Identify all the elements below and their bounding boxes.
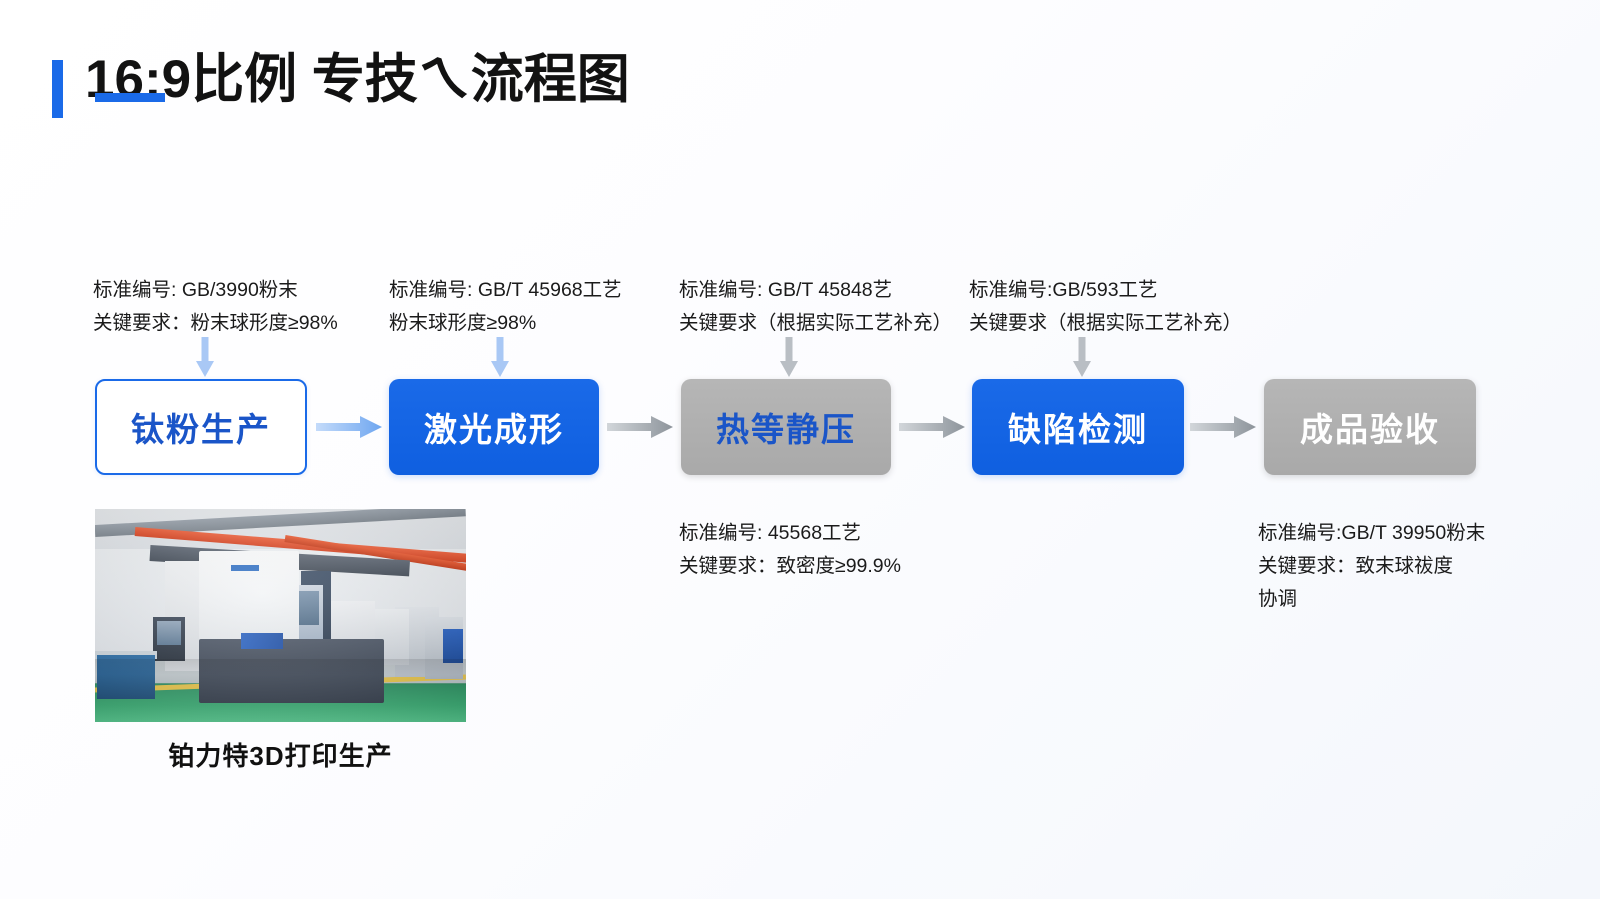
annotation-key-requirement: 粉末球形度≥98% <box>389 307 622 340</box>
annotation-block-6: 标准编号:GB/T 39950粉末 关键要求：致末球祓度 协调 <box>1258 517 1485 616</box>
page-title-block: 16:9比例 专技ㄟ流程图 <box>52 52 630 118</box>
factory-photo <box>95 509 466 722</box>
flow-node-hot-isostatic-pressing[interactable]: 热等静压 <box>681 379 891 475</box>
annotation-block-3: 标准编号: GB/T 45848艺 关键要求（根据实际工艺补充） <box>679 274 952 340</box>
flow-node-laser-forming[interactable]: 激光成形 <box>389 379 599 475</box>
annotation-block-5: 标准编号: 45568工艺 关键要求：致密度≥99.9% <box>679 517 901 583</box>
annotation-standard-no: 标准编号:GB/593工艺 <box>969 274 1242 307</box>
flow-node-label: 钛粉生产 <box>131 403 271 451</box>
flow-node-label: 成品验收 <box>1300 403 1440 451</box>
flow-node-final-acceptance[interactable]: 成品验收 <box>1264 379 1476 475</box>
right-arrow-icon <box>316 415 382 439</box>
annotation-key-requirement: 关键要求：粉末球形度≥98% <box>93 307 338 340</box>
annotation-block-2: 标准编号: GB/T 45968工艺 粉末球形度≥98% <box>389 274 622 340</box>
annotation-standard-no: 标准编号: GB/T 45848艺 <box>679 274 952 307</box>
annotation-standard-no: 标准编号: GB/3990粉末 <box>93 274 338 307</box>
right-arrow-icon <box>899 415 965 439</box>
down-arrow-icon <box>778 337 800 379</box>
annotation-key-requirement: 关键要求：致密度≥99.9% <box>679 550 901 583</box>
annotation-standard-no: 标准编号: GB/T 45968工艺 <box>389 274 622 307</box>
annotation-key-requirement: 关键要求（根据实际工艺补充） <box>679 307 952 340</box>
title-underline <box>95 93 165 102</box>
flow-node-label: 缺陷检测 <box>1008 403 1148 451</box>
flow-node-label: 激光成形 <box>424 403 564 451</box>
annotation-key-requirement-cont: 协调 <box>1258 583 1485 616</box>
process-flow-row: 钛粉生产 激光成形 热等静压 缺陷检测 成品验收 <box>0 379 1600 475</box>
right-arrow-icon <box>607 415 673 439</box>
page-title: 16:9比例 专技ㄟ流程图 <box>85 52 630 108</box>
annotation-block-4: 标准编号:GB/593工艺 关键要求（根据实际工艺补充） <box>969 274 1242 340</box>
title-accent-bar <box>52 60 63 118</box>
flow-node-label: 热等静压 <box>716 403 856 451</box>
title-row: 16:9比例 专技ㄟ流程图 <box>52 52 630 118</box>
flow-node-defect-inspection[interactable]: 缺陷检测 <box>972 379 1184 475</box>
annotation-block-1: 标准编号: GB/3990粉末 关键要求：粉末球形度≥98% <box>93 274 338 340</box>
slide-canvas: 16:9比例 专技ㄟ流程图 标准编号: GB/3990粉末 关键要求：粉末球形度… <box>0 0 1600 899</box>
annotation-key-requirement: 关键要求：致末球祓度 <box>1258 550 1485 583</box>
annotation-key-requirement: 关键要求（根据实际工艺补充） <box>969 307 1242 340</box>
annotation-standard-no: 标准编号: 45568工艺 <box>679 517 901 550</box>
right-arrow-icon <box>1190 415 1256 439</box>
annotation-standard-no: 标准编号:GB/T 39950粉末 <box>1258 517 1485 550</box>
down-arrow-icon <box>194 337 216 379</box>
down-arrow-icon <box>1071 337 1093 379</box>
flow-node-titanium-powder[interactable]: 钛粉生产 <box>95 379 307 475</box>
photo-block: 铂力特3D打印生产 <box>95 509 466 773</box>
down-arrow-icon <box>489 337 511 379</box>
photo-caption: 铂力特3D打印生产 <box>95 736 466 773</box>
